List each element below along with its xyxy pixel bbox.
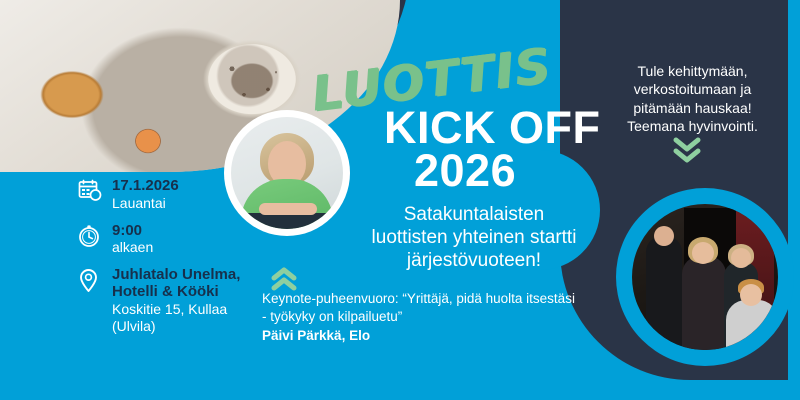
keynote-line-2: - työkyky on kilpailuetu” <box>262 309 402 324</box>
clock-icon <box>78 223 112 253</box>
subtitle: Satakuntalaisten luottisten yhteinen sta… <box>348 203 600 273</box>
keynote-speaker: Päivi Pärkkä, Elo <box>262 327 632 345</box>
keynote-block: Keynote-puheenvuoro: “Yrittäjä, pidä huo… <box>262 290 632 346</box>
intro-line-1: Tule kehittymään, <box>638 63 748 79</box>
subtitle-line-3: järjestövuoteen! <box>407 250 541 271</box>
location-pin-icon <box>78 267 112 299</box>
list-item-text: 17.1.2026 Lauantai <box>112 178 253 212</box>
portrait-arm <box>259 203 317 215</box>
intro-line-4: Teemana hyvinvointi. <box>627 118 758 134</box>
event-time-note: alkaen <box>112 239 253 256</box>
event-weekday: Lauantai <box>112 195 253 212</box>
intro-text-block: Tule kehittymään, verkostoitumaan ja pit… <box>595 62 790 136</box>
headline-line-2: 2026 <box>414 149 600 192</box>
page-title: KICK OFF 2026 <box>384 106 600 192</box>
list-item: 17.1.2026 Lauantai <box>78 178 253 212</box>
subtitle-line-1: Satakuntalaisten <box>404 204 545 225</box>
event-time: 9:00 <box>112 223 253 240</box>
venue-municipality: (Ulvila) <box>112 318 253 335</box>
venue-address: Koskitie 15, Kullaa <box>112 301 253 318</box>
keynote-line-1: Keynote-puheenvuoro: “Yrittäjä, pidä huo… <box>262 291 575 306</box>
group-person-1-head <box>654 226 674 246</box>
event-details-list: 17.1.2026 Lauantai 9:00 alkaen <box>78 178 253 345</box>
list-item: 9:00 alkaen <box>78 223 253 257</box>
list-item-text: 9:00 alkaen <box>112 223 253 257</box>
cyan-right-strip <box>788 0 800 400</box>
group-photo-image <box>632 204 778 350</box>
chevron-double-down-icon <box>672 136 702 169</box>
group-person-4 <box>726 300 778 350</box>
group-person-2 <box>682 256 726 350</box>
group-networking-photo <box>616 188 794 366</box>
list-item-text: Juhlatalo Unelma, Hotelli & Kööki Koskit… <box>112 267 253 334</box>
intro-line-2: verkostoitumaan ja <box>634 81 752 97</box>
intro-line-3: pitämään hauskaa! <box>633 100 751 116</box>
group-person-1 <box>646 236 682 350</box>
group-person-3-head <box>731 248 751 268</box>
group-person-4-head <box>740 284 762 306</box>
venue-name-line-1: Juhlatalo Unelma, <box>112 267 253 284</box>
list-item: Juhlatalo Unelma, Hotelli & Kööki Koskit… <box>78 267 253 334</box>
poster-canvas: LUOTTIS KICK OFF 2026 Satakuntalaisten l… <box>0 0 800 400</box>
group-person-2-head <box>692 242 714 264</box>
subtitle-line-2: luottisten yhteinen startti <box>372 227 577 248</box>
venue-name-line-2: Hotelli & Kööki <box>112 284 253 301</box>
event-date: 17.1.2026 <box>112 178 253 195</box>
calendar-icon <box>78 178 112 207</box>
